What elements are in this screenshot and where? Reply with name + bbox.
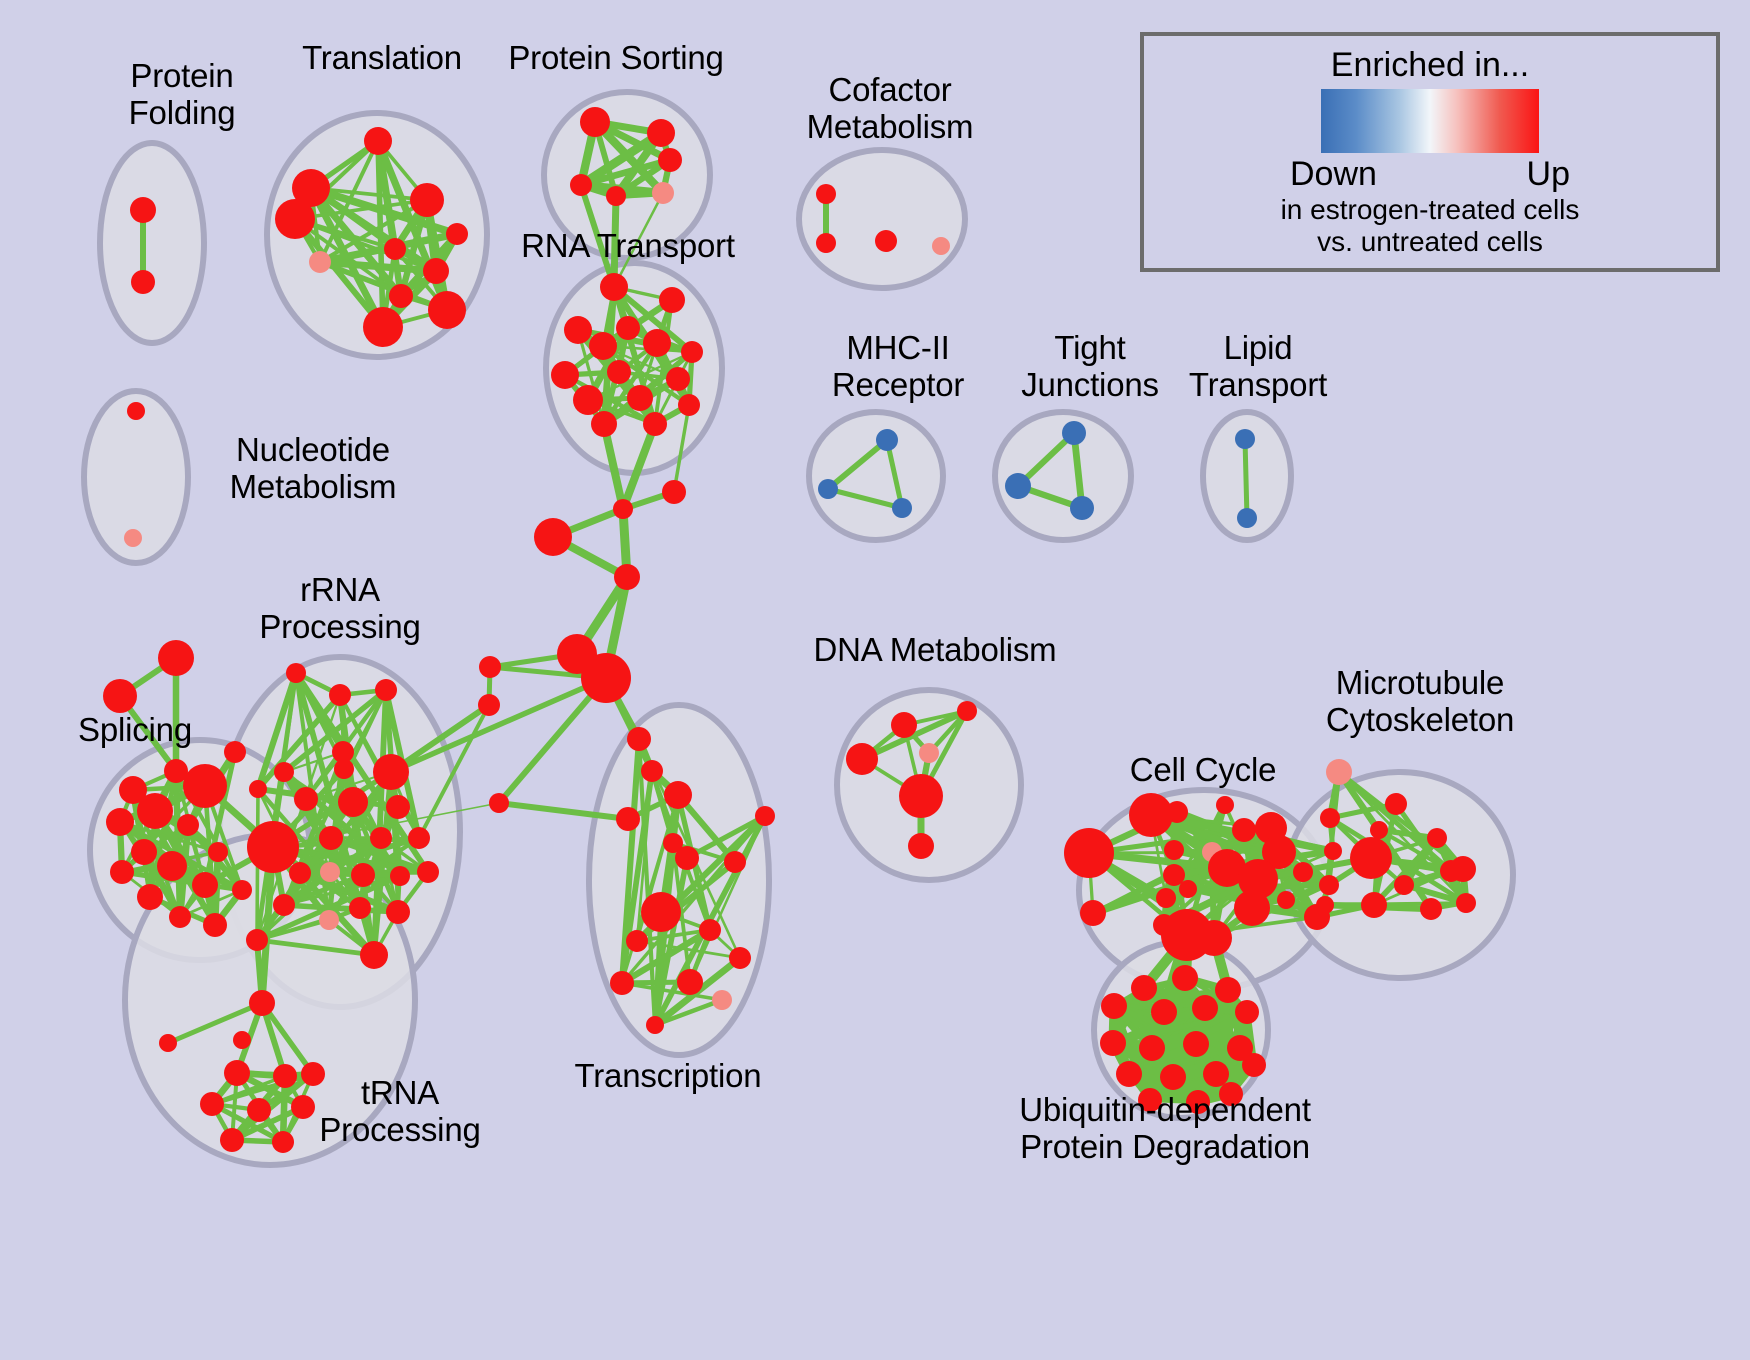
network-node — [363, 307, 403, 347]
network-node — [899, 774, 943, 818]
network-node — [580, 107, 610, 137]
network-node — [386, 900, 410, 924]
network-node — [200, 1092, 224, 1116]
network-node — [816, 233, 836, 253]
network-node — [286, 663, 306, 683]
network-node — [919, 743, 939, 763]
network-node — [1235, 1000, 1259, 1024]
legend-panel: Enriched in... Down Up in estrogen-treat… — [1140, 32, 1720, 272]
network-node — [1361, 892, 1387, 918]
network-node — [581, 653, 631, 703]
network-node — [1370, 821, 1388, 839]
network-node — [1277, 891, 1295, 909]
network-node — [626, 930, 648, 952]
network-node — [489, 793, 509, 813]
enrichment-network-figure: Protein FoldingTranslationProtein Sortin… — [0, 0, 1750, 1360]
network-node — [157, 851, 187, 881]
legend-down-label: Down — [1290, 155, 1377, 194]
network-node — [417, 861, 439, 883]
network-node — [573, 385, 603, 415]
network-node — [570, 174, 592, 196]
network-node — [1394, 875, 1414, 895]
network-node — [646, 1016, 664, 1034]
legend-subtitle-line2: vs. untreated cells — [1317, 226, 1543, 258]
network-node — [384, 238, 406, 260]
network-node — [389, 284, 413, 308]
network-node — [600, 273, 628, 301]
network-node — [1235, 429, 1255, 449]
network-node — [1005, 473, 1031, 499]
network-node — [613, 499, 633, 519]
network-node — [607, 360, 631, 384]
network-node — [1160, 1064, 1186, 1090]
network-node — [1179, 880, 1197, 898]
network-node — [908, 833, 934, 859]
network-node — [610, 971, 634, 995]
network-node — [410, 183, 444, 217]
network-node — [551, 361, 579, 389]
network-node — [666, 367, 690, 391]
network-node — [1100, 1030, 1126, 1056]
network-node — [1196, 920, 1232, 956]
network-node — [816, 184, 836, 204]
network-node — [1219, 1082, 1243, 1106]
network-node — [1172, 965, 1198, 991]
network-node — [183, 764, 227, 808]
network-node — [678, 394, 700, 416]
network-node — [247, 821, 299, 873]
network-node — [275, 199, 315, 239]
network-node — [106, 808, 134, 836]
network-node — [446, 223, 468, 245]
network-node — [110, 860, 134, 884]
network-node — [1156, 888, 1176, 908]
network-node — [301, 1062, 325, 1086]
network-node — [1215, 977, 1241, 1003]
network-node — [1151, 999, 1177, 1025]
network-node — [729, 947, 751, 969]
network-edge — [1245, 439, 1247, 518]
network-node — [1232, 818, 1256, 842]
network-node — [131, 839, 157, 865]
network-node — [390, 866, 410, 886]
network-node — [1293, 862, 1313, 882]
network-node — [1129, 793, 1173, 837]
network-node — [534, 518, 572, 556]
network-node — [681, 341, 703, 363]
network-node — [1242, 1053, 1266, 1077]
network-node — [294, 787, 318, 811]
network-node — [158, 640, 194, 676]
network-node — [386, 795, 410, 819]
legend-up-label: Up — [1527, 155, 1570, 194]
network-node — [1101, 993, 1127, 1019]
network-node — [1164, 840, 1184, 860]
network-node — [1138, 1088, 1162, 1112]
network-node — [364, 127, 392, 155]
network-node — [712, 990, 732, 1010]
network-node — [1427, 828, 1447, 848]
network-node — [130, 197, 156, 223]
network-node — [1237, 508, 1257, 528]
network-node — [647, 119, 675, 147]
network-node — [360, 941, 388, 969]
network-node — [137, 793, 173, 829]
network-node — [224, 1060, 250, 1086]
cluster-ellipse-mhc-ii-receptor — [809, 412, 943, 540]
network-node — [233, 1031, 251, 1049]
network-node — [1319, 875, 1339, 895]
network-node — [1203, 1061, 1229, 1087]
network-node — [564, 316, 592, 344]
network-node — [159, 1034, 177, 1052]
network-node — [375, 679, 397, 701]
network-node — [224, 741, 246, 763]
network-node — [249, 780, 267, 798]
network-node — [606, 186, 626, 206]
network-node — [641, 892, 681, 932]
network-node — [932, 237, 950, 255]
network-node — [1216, 796, 1234, 814]
network-node — [1064, 828, 1114, 878]
network-node — [1324, 842, 1342, 860]
network-node — [652, 182, 674, 204]
network-node — [675, 846, 699, 870]
network-node — [589, 332, 617, 360]
network-node — [659, 287, 685, 313]
network-node — [291, 1095, 315, 1119]
network-node — [662, 480, 686, 504]
network-node — [1062, 421, 1086, 445]
network-node — [249, 990, 275, 1016]
network-node — [246, 929, 268, 951]
network-node — [643, 412, 667, 436]
network-node — [232, 880, 252, 900]
network-node — [124, 529, 142, 547]
network-node — [1186, 1090, 1210, 1114]
network-node — [423, 258, 449, 284]
network-node — [408, 827, 430, 849]
network-node — [273, 1064, 297, 1088]
network-node — [846, 743, 878, 775]
network-node — [478, 694, 500, 716]
network-node — [247, 1098, 271, 1122]
network-node — [1183, 1031, 1209, 1057]
network-node — [616, 316, 640, 340]
network-node — [127, 402, 145, 420]
network-node — [479, 656, 501, 678]
network-node — [1385, 793, 1407, 815]
network-node — [320, 862, 340, 882]
network-node — [1326, 759, 1352, 785]
network-node — [876, 429, 898, 451]
network-node — [1234, 890, 1270, 926]
network-node — [370, 827, 392, 849]
network-node — [627, 727, 651, 751]
network-node — [1316, 896, 1334, 914]
cluster-ellipse-protein-folding — [100, 143, 204, 343]
network-node — [272, 1131, 294, 1153]
network-node — [309, 251, 331, 273]
network-node — [1456, 893, 1476, 913]
network-node — [891, 712, 917, 738]
network-node — [627, 385, 653, 411]
network-node — [664, 781, 692, 809]
network-node — [1450, 856, 1476, 882]
legend-title: Enriched in... — [1331, 46, 1529, 85]
network-node — [699, 919, 721, 941]
network-node — [289, 862, 311, 884]
network-node — [351, 863, 375, 887]
legend-color-gradient — [1321, 89, 1539, 153]
network-node — [643, 329, 671, 357]
network-node — [220, 1128, 244, 1152]
legend-subtitle-line1: in estrogen-treated cells — [1281, 194, 1580, 226]
network-node — [192, 872, 218, 898]
network-node — [274, 762, 294, 782]
network-node — [334, 759, 354, 779]
network-node — [957, 701, 977, 721]
network-node — [818, 479, 838, 499]
network-node — [875, 230, 897, 252]
network-node — [177, 814, 199, 836]
network-node — [1080, 900, 1106, 926]
network-node — [349, 897, 371, 919]
network-node — [137, 884, 163, 910]
network-node — [428, 291, 466, 329]
network-node — [373, 754, 409, 790]
network-node — [1350, 837, 1392, 879]
network-node — [641, 760, 663, 782]
network-node — [169, 906, 191, 928]
network-node — [677, 969, 703, 995]
network-node — [1420, 898, 1442, 920]
network-node — [614, 564, 640, 590]
network-node — [273, 894, 295, 916]
network-node — [591, 411, 617, 437]
network-node — [319, 910, 339, 930]
network-node — [1070, 496, 1094, 520]
network-node — [724, 851, 746, 873]
network-node — [616, 807, 640, 831]
network-node — [329, 684, 351, 706]
network-node — [658, 148, 682, 172]
network-node — [892, 498, 912, 518]
network-node — [755, 806, 775, 826]
network-node — [131, 270, 155, 294]
legend-endpoints: Down Up — [1290, 155, 1570, 194]
network-node — [1116, 1061, 1142, 1087]
network-node — [1139, 1035, 1165, 1061]
network-node — [319, 826, 343, 850]
network-node — [1192, 995, 1218, 1021]
network-node — [103, 679, 137, 713]
network-node — [1131, 975, 1157, 1001]
network-node — [338, 787, 368, 817]
network-node — [208, 842, 228, 862]
network-node — [1320, 808, 1340, 828]
network-node — [203, 913, 227, 937]
